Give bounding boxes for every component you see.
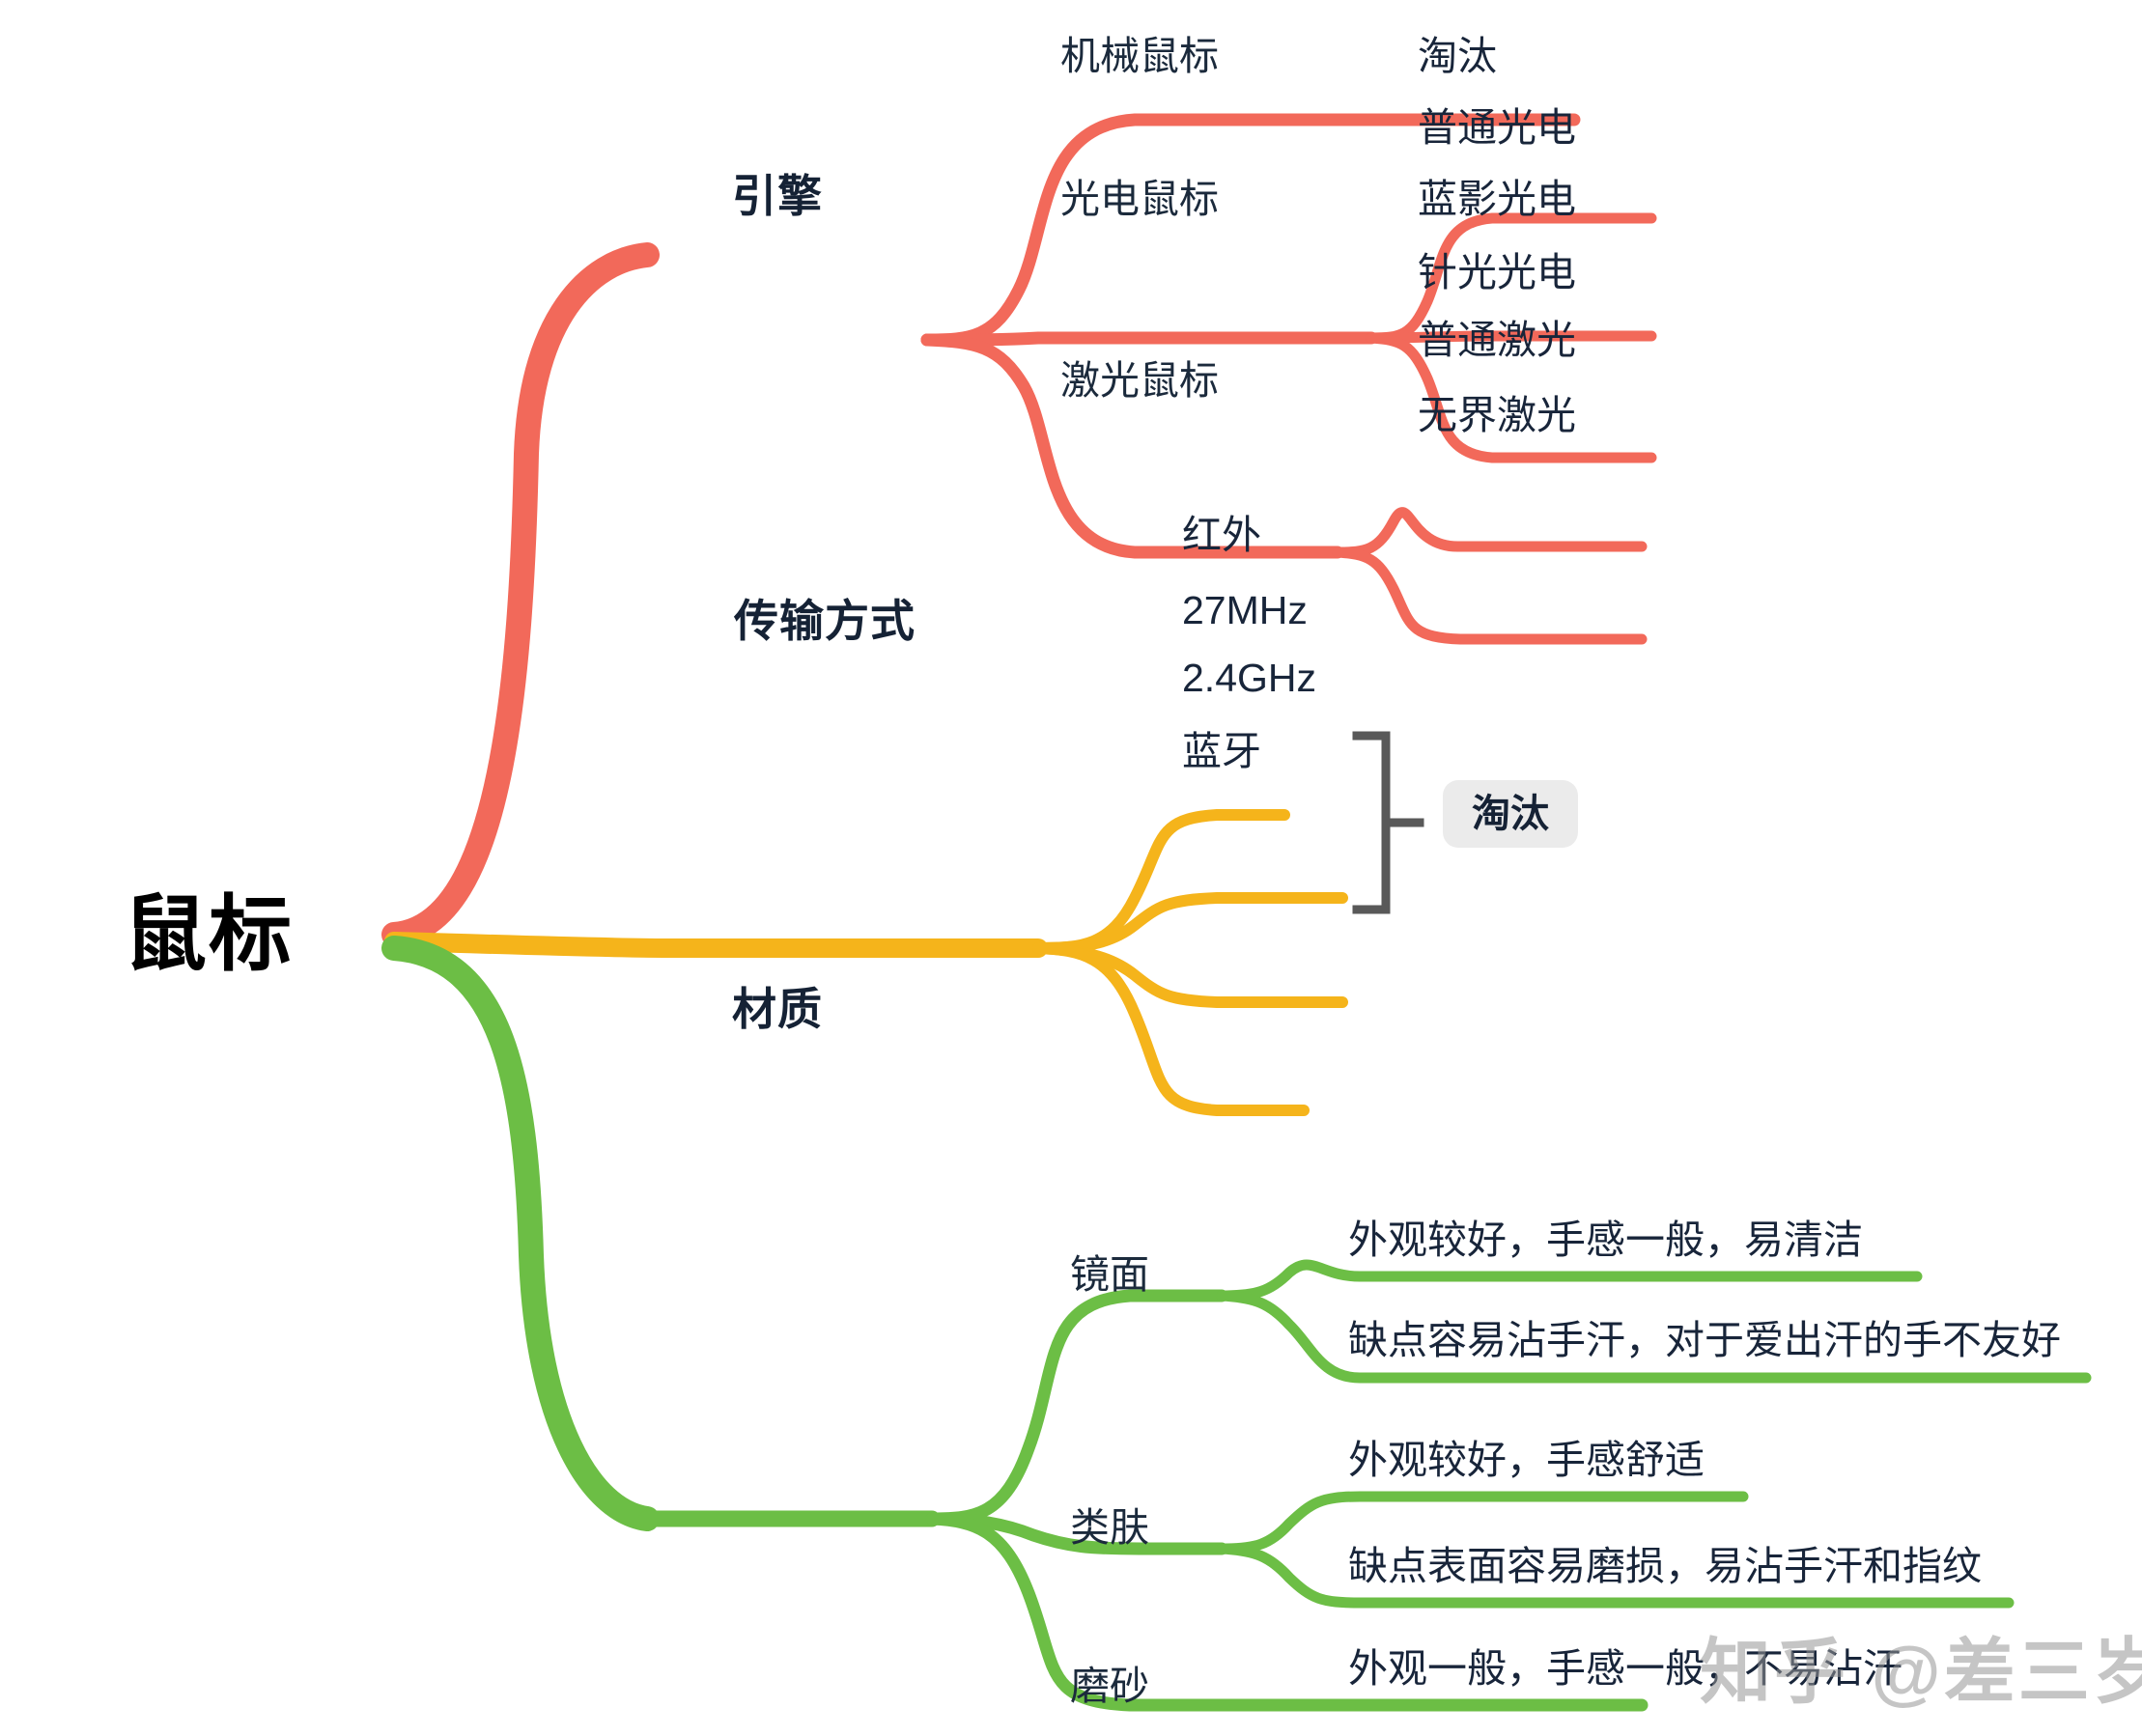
node-material-mirror[interactable]: 镜面 (1070, 1255, 1149, 1295)
node-transmission-27mhz[interactable]: 27MHz (1182, 591, 1308, 630)
line-engine-to-mechanical (927, 120, 1574, 340)
node-mirror-advantage[interactable]: 外观较好，手感一般，易清洁 (1348, 1220, 1863, 1260)
node-material-matte[interactable]: 磨砂 (1070, 1666, 1149, 1706)
line-laser-to-common-laser (1338, 513, 1642, 552)
node-mechanical-obsolete[interactable]: 淘汰 (1418, 37, 1497, 76)
mindmap-canvas: 鼠标 引擎 机械鼠标 淘汰 光电鼠标 普通光电 蓝影光电 针光光电 激光鼠标 普… (0, 0, 2142, 1736)
node-optical-blue-shadow[interactable]: 蓝影光电 (1418, 180, 1576, 219)
root-node-mouse[interactable]: 鼠标 (124, 893, 294, 976)
line-skin-to-pro (1222, 1497, 1743, 1549)
status-badge-obsolete[interactable]: 淘汰 (1443, 780, 1578, 848)
line-transmission-to-bluetooth (1038, 948, 1304, 1110)
branch-connector-lines (0, 0, 2142, 1736)
branch-node-engine[interactable]: 引擎 (732, 174, 823, 218)
node-transmission-24ghz[interactable]: 2.4GHz (1182, 658, 1316, 698)
line-mirror-to-pro (1222, 1265, 1917, 1296)
node-mechanical-mouse[interactable]: 机械鼠标 (1060, 37, 1219, 76)
line-laser-to-boundless-laser (1338, 552, 1642, 639)
node-optical-pin-light[interactable]: 针光光电 (1418, 253, 1576, 293)
node-matte-note[interactable]: 外观一般，手感一般，不易沾汗 (1348, 1649, 1902, 1689)
line-root-to-material (394, 948, 647, 1519)
node-optical-mouse[interactable]: 光电鼠标 (1060, 180, 1219, 219)
node-material-skin-like[interactable]: 类肤 (1070, 1508, 1149, 1548)
branch-node-transmission[interactable]: 传输方式 (734, 599, 916, 643)
obsolete-bracket (1357, 736, 1420, 910)
node-laser-mouse[interactable]: 激光鼠标 (1060, 361, 1219, 401)
node-laser-boundless[interactable]: 无界激光 (1418, 396, 1576, 435)
node-laser-common[interactable]: 普通激光 (1418, 321, 1576, 360)
line-material-to-mirror (932, 1296, 1222, 1519)
node-skin-disadvantage[interactable]: 缺点表面容易磨损，易沾手汗和指纹 (1348, 1547, 1982, 1586)
line-transmission-to-24ghz (1038, 948, 1342, 1002)
node-skin-advantage[interactable]: 外观较好，手感舒适 (1348, 1441, 1705, 1480)
branch-node-material[interactable]: 材质 (732, 987, 823, 1031)
line-root-to-engine (394, 255, 647, 935)
node-transmission-bluetooth[interactable]: 蓝牙 (1182, 732, 1261, 771)
line-transmission-to-27mhz (1038, 898, 1342, 948)
line-transmission-to-infrared (1038, 815, 1284, 948)
node-mirror-disadvantage[interactable]: 缺点容易沾手汗，对于爱出汗的手不友好 (1348, 1321, 2061, 1360)
line-root-to-transmission (394, 941, 1038, 948)
node-optical-common[interactable]: 普通光电 (1418, 108, 1576, 148)
node-transmission-infrared[interactable]: 红外 (1182, 516, 1261, 555)
line-engine-to-optical (927, 338, 1371, 340)
